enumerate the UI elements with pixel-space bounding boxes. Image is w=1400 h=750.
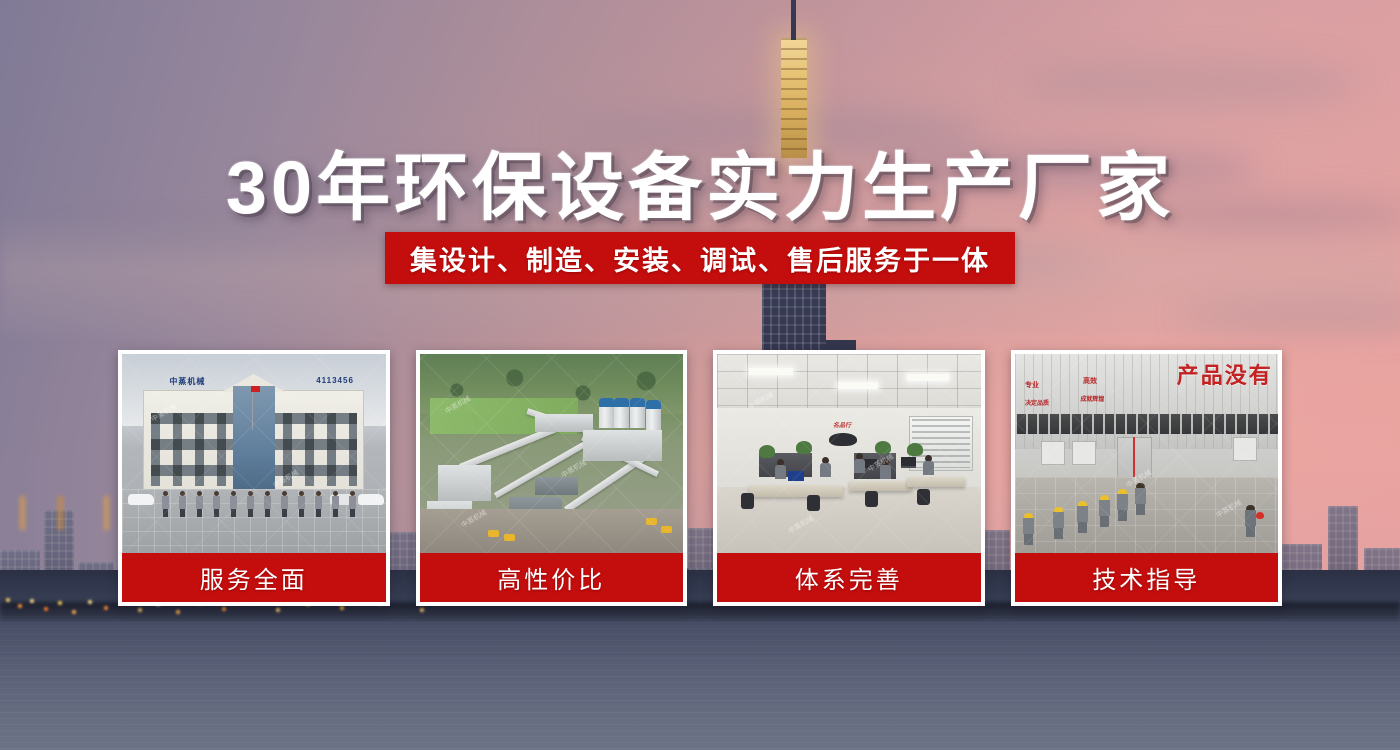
card-caption: 服务全面 bbox=[122, 553, 386, 602]
feature-card-value[interactable]: 中蒸机械 中蒸机械 中蒸机械 高性价比 bbox=[416, 350, 688, 606]
card-caption-label: 技术指导 bbox=[1092, 560, 1200, 595]
card-caption: 技术指导 bbox=[1015, 553, 1279, 602]
card-caption: 高性价比 bbox=[420, 553, 684, 602]
office-building-staff-photo: 中蒸机械 4113456 bbox=[122, 354, 386, 553]
hero-headline: 30年环保设备实力生产厂家 bbox=[0, 128, 1400, 235]
factory-workers-training-photo: 产品没有 专业 决定品质 高效 成就辉煌 bbox=[1015, 354, 1279, 553]
card-caption-label: 高性价比 bbox=[497, 560, 605, 595]
feature-card-row: 中蒸机械 4113456 bbox=[118, 350, 1282, 606]
hero-subtitle-text: 集设计、制造、安装、调试、售后服务于一体 bbox=[410, 239, 990, 278]
feature-card-system[interactable]: 名品行 bbox=[713, 350, 985, 606]
aerial-industrial-plant-photo: 中蒸机械 中蒸机械 中蒸机械 bbox=[420, 354, 684, 553]
card-caption: 体系完善 bbox=[717, 553, 981, 602]
hero-subtitle-banner: 集设计、制造、安装、调试、售后服务于一体 bbox=[385, 232, 1015, 284]
tower-spire bbox=[791, 0, 796, 40]
hero-banner: 30年环保设备实力生产厂家 集设计、制造、安装、调试、售后服务于一体 中蒸机械 … bbox=[0, 0, 1400, 750]
card-caption-label: 服务全面 bbox=[200, 560, 308, 595]
card-caption-label: 体系完善 bbox=[795, 560, 903, 595]
feature-card-training[interactable]: 产品没有 专业 决定品质 高效 成就辉煌 bbox=[1011, 350, 1283, 606]
feature-card-service[interactable]: 中蒸机械 4113456 bbox=[118, 350, 390, 606]
office-interior-staff-photo: 名品行 bbox=[717, 354, 981, 553]
